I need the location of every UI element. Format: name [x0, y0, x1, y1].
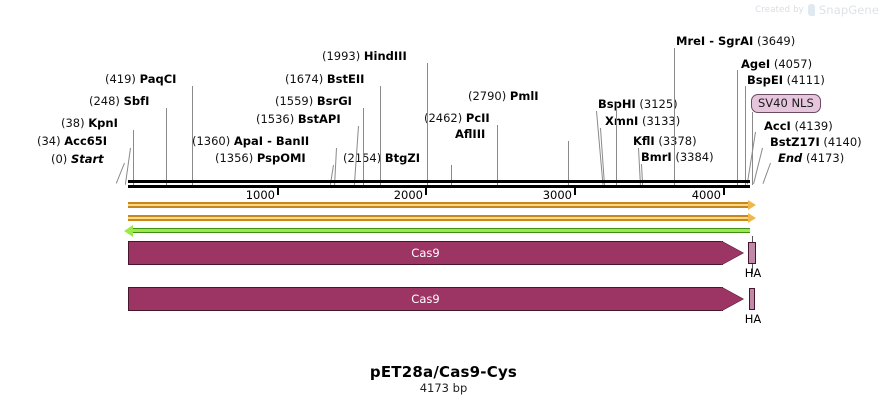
- leader-line-bstell: [380, 86, 381, 185]
- leader-line-start: [116, 163, 125, 184]
- leader-line-kpni: [133, 130, 134, 185]
- feature-track-promoter-1[interactable]: [128, 202, 750, 208]
- orf-cas9-2-label: Cas9: [128, 287, 723, 311]
- watermark-brand-text: SnapGene: [819, 3, 879, 17]
- enzyme-label-bsrgi[interactable]: (1559) BsrGI: [275, 95, 352, 107]
- leader-line-agei: [737, 70, 738, 185]
- plasmid-backbone-line-lower: [128, 185, 750, 188]
- feature-label-sv40-nls[interactable]: SV40 NLS: [751, 94, 821, 113]
- enzyme-label-acc65i[interactable]: (34) Acc65I: [37, 135, 107, 147]
- leader-line-sbfi: [166, 108, 167, 185]
- leader-line-bsrgi: [363, 108, 364, 185]
- orf-cas9-2[interactable]: Cas9: [128, 287, 744, 311]
- enzyme-label-end[interactable]: End (4173): [778, 152, 844, 164]
- enzyme-label-bstz17i[interactable]: BstZ17I (4140): [770, 136, 862, 148]
- orf-cas9-1-arrowhead: [721, 241, 743, 265]
- enzyme-label-bsphi[interactable]: BspHI (3125): [598, 98, 678, 110]
- enzyme-label-kpni[interactable]: (38) KpnI: [61, 117, 118, 129]
- ruler-tick-2000: [425, 188, 427, 195]
- ruler-tick-1000: [277, 188, 279, 195]
- plasmid-length: 4173 bp: [0, 381, 887, 395]
- snapgene-watermark: Created by SnapGene: [755, 3, 879, 17]
- leader-line-pcii: [497, 125, 498, 185]
- ruler-tick-4000: [723, 188, 725, 195]
- enzyme-label-pmli[interactable]: (2790) PmlI: [468, 90, 539, 102]
- leader-line-bspei: [745, 86, 746, 185]
- enzyme-label-bstapi[interactable]: (1536) BstAPI: [256, 113, 341, 125]
- ha-tag-1-label: HA: [732, 266, 774, 280]
- ruler-label-3000: 3000: [522, 188, 572, 202]
- enzyme-label-pspomi[interactable]: (1356) PspOMI: [215, 152, 306, 164]
- enzyme-label-acci[interactable]: AccI (4139): [764, 120, 833, 132]
- leader-line-hindiii: [427, 63, 428, 185]
- enzyme-label-pcii[interactable]: (2462) PcII: [424, 112, 490, 124]
- feature-track-promoter-2[interactable]: [128, 215, 750, 221]
- ha-tag-2-box[interactable]: [749, 288, 755, 310]
- enzyme-label-agei[interactable]: AgeI (4057): [741, 58, 812, 70]
- enzyme-label-hindiii[interactable]: (1993) HindIII: [322, 50, 407, 62]
- enzyme-label-bstell[interactable]: (1674) BstEII: [285, 73, 364, 85]
- ha-tag-1-box[interactable]: [748, 242, 756, 264]
- feature-track-primer-arrowhead: [124, 225, 133, 237]
- ruler-tick-3000: [574, 188, 576, 195]
- plasmid-backbone-line[interactable]: [128, 180, 750, 183]
- leader-line-afliii: [568, 141, 569, 185]
- snapgene-logo-icon: [808, 4, 815, 16]
- leader-line-end: [763, 163, 771, 184]
- enzyme-label-sbfi[interactable]: (248) SbfI: [89, 95, 149, 107]
- leader-line-bstz17i: [753, 148, 763, 184]
- orf-cas9-1-label: Cas9: [128, 241, 723, 265]
- enzyme-label-apai-banii[interactable]: (1360) ApaI - BanII: [192, 135, 309, 147]
- orf-cas9-2-arrowhead: [721, 287, 743, 311]
- plasmid-title: pET28a/Cas9-Cys: [0, 363, 887, 381]
- leader-line-pmli: [616, 103, 617, 185]
- plasmid-map: Created by SnapGene (419) PaqCI (248) Sb…: [0, 0, 887, 402]
- leader-line-mrei-sgrai: [674, 48, 675, 185]
- ha-tag-2-label: HA: [732, 312, 774, 326]
- feature-track-promoter-2-arrowhead: [748, 213, 756, 223]
- ruler-label-4000: 4000: [671, 188, 721, 202]
- enzyme-label-bmri[interactable]: BmrI (3384): [641, 151, 714, 163]
- feature-track-primer[interactable]: [133, 228, 750, 233]
- feature-track-promoter-1-arrowhead: [748, 200, 756, 210]
- orf-cas9-1[interactable]: Cas9: [128, 241, 744, 265]
- enzyme-label-mrei-sgrai[interactable]: MreI - SgrAI (3649): [676, 35, 795, 47]
- leader-line-sv40-nls: [752, 112, 753, 185]
- ruler-label-2000: 2000: [373, 188, 423, 202]
- enzyme-label-bspei[interactable]: BspEI (4111): [747, 74, 825, 86]
- enzyme-label-kfli[interactable]: KflI (3378): [633, 135, 697, 147]
- leader-line-paqci: [192, 86, 193, 185]
- enzyme-label-start[interactable]: (0) Start: [51, 153, 104, 165]
- enzyme-label-paqci[interactable]: (419) PaqCI: [105, 73, 176, 85]
- watermark-created-by-text: Created by: [755, 5, 804, 15]
- enzyme-label-afliii[interactable]: AflIII: [455, 128, 485, 140]
- ruler-label-1000: 1000: [225, 188, 275, 202]
